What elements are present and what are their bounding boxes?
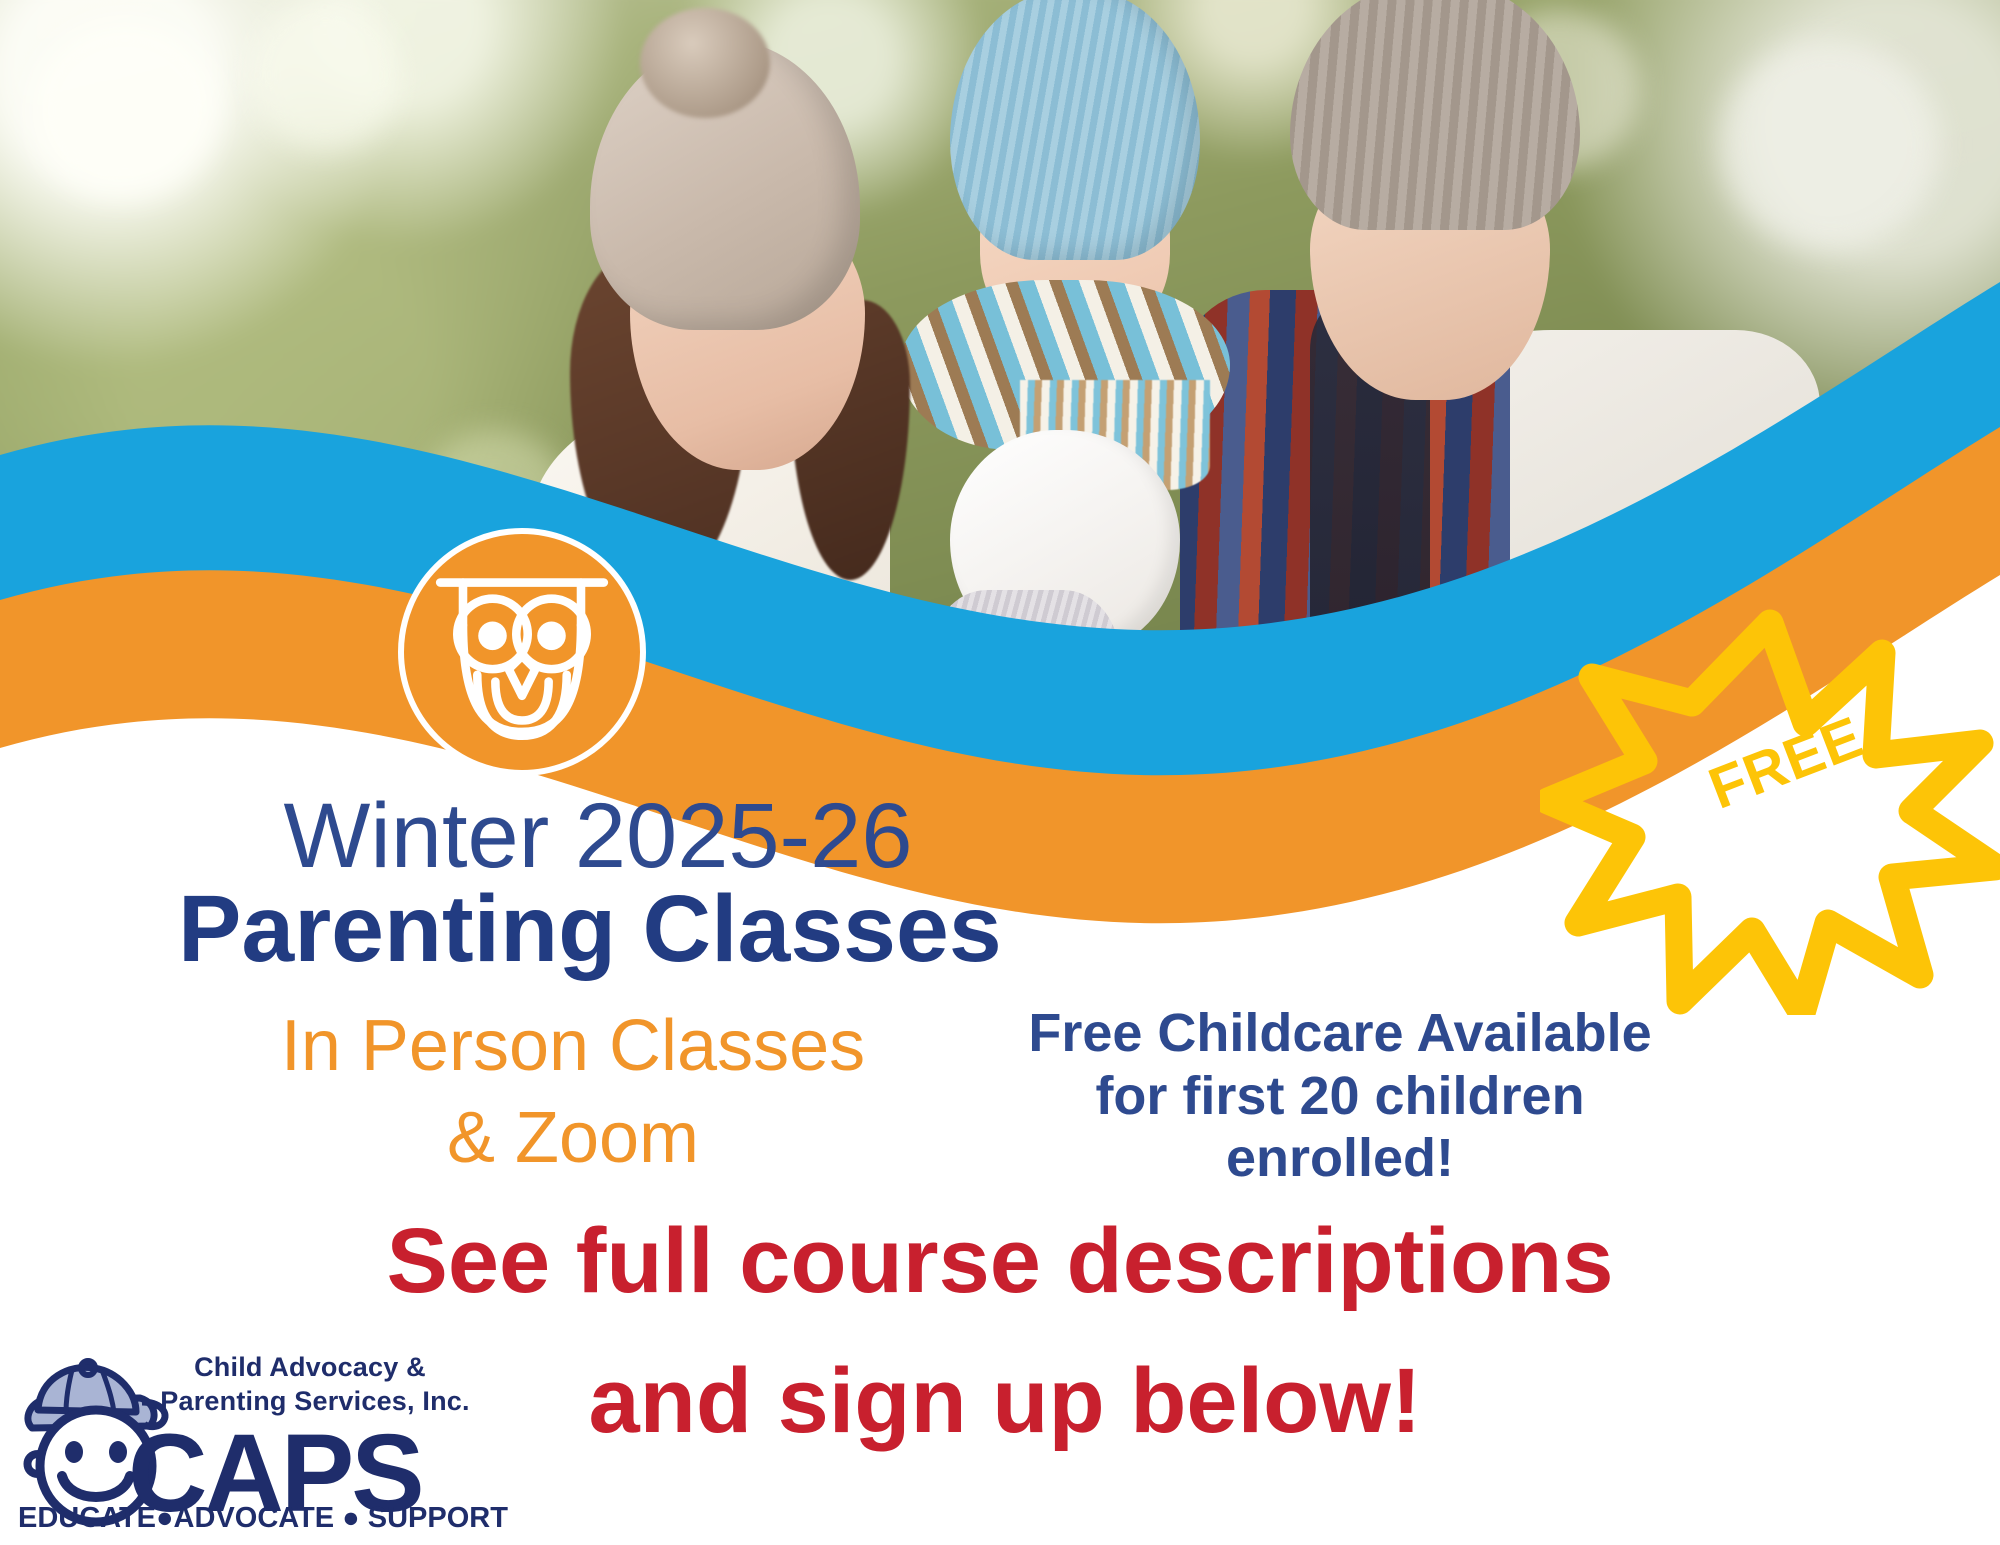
mitten-cuff	[930, 590, 1120, 760]
childcare-line3: enrolled!	[990, 1127, 1690, 1190]
owl-right-pupil	[537, 622, 566, 651]
class-format-line1: In Person Classes	[228, 1000, 918, 1092]
page-title: Parenting Classes	[178, 882, 968, 977]
bokeh-light-1	[30, 20, 220, 200]
childcare-line2: for first 20 children	[990, 1065, 1690, 1128]
season-title: Winter 2025-26	[248, 790, 948, 882]
logo-tagline-line1: Child Advocacy &	[160, 1352, 460, 1383]
caps-organization-logo: Child Advocacy & Parenting Services, Inc…	[10, 1330, 470, 1545]
right-eye	[109, 1441, 127, 1463]
class-format-text: In Person Classes & Zoom	[228, 1000, 918, 1184]
flyer-canvas: FREE Winter 2025-26 Parenting Classes In…	[0, 0, 2000, 1545]
logo-motto: EDUCATE●ADVOCATE ● SUPPORT	[18, 1502, 468, 1535]
bokeh-light-3	[1720, 40, 1940, 250]
starburst-outline	[1548, 623, 1995, 1013]
childcare-notice: Free Childcare Available for first 20 ch…	[990, 1002, 1690, 1190]
owl-graduate-icon	[404, 534, 640, 770]
bokeh-light-6	[120, 520, 320, 710]
class-format-line2: & Zoom	[228, 1092, 918, 1184]
owl-left-pupil	[478, 622, 507, 651]
cta-line-2: and sign up below!	[480, 1355, 1530, 1447]
cta-line-1: See full course descriptions	[250, 1215, 1750, 1307]
bokeh-light-2	[250, 0, 400, 150]
child-knit-hat	[950, 0, 1200, 260]
childcare-line1: Free Childcare Available	[990, 1002, 1690, 1065]
father-knit-hat	[1290, 0, 1580, 230]
owl-logo-badge	[398, 528, 646, 776]
free-starburst-badge	[1540, 605, 2000, 1015]
left-eye	[65, 1441, 83, 1463]
mother-hat-pompom	[640, 8, 770, 118]
